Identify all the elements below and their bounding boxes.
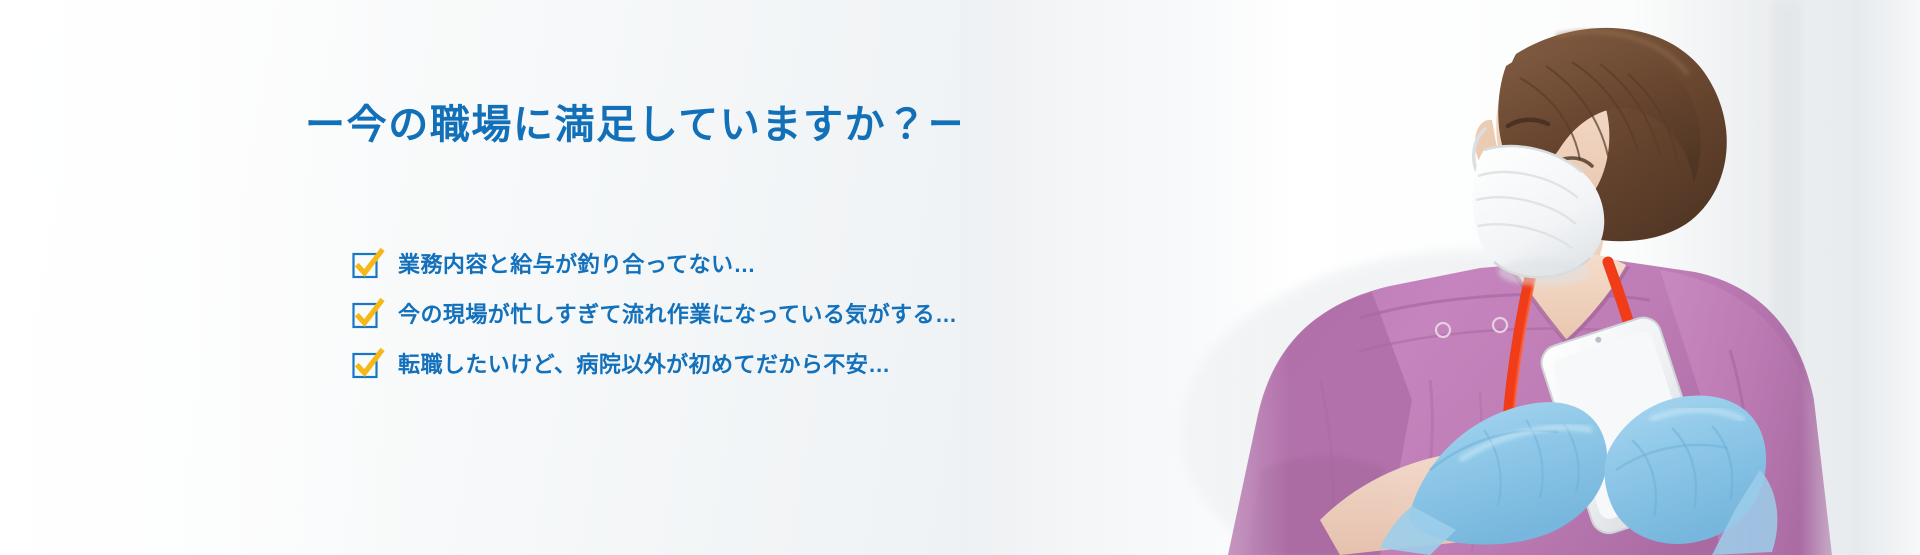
list-item: 転職したいけど、病院以外が初めてだから不安…: [352, 350, 957, 380]
checkbox-checked-icon: [352, 350, 382, 380]
list-item-label: 転職したいけど、病院以外が初めてだから不安…: [398, 351, 891, 380]
checkbox-checked-icon: [352, 250, 382, 280]
list-item: 業務内容と給与が釣り合ってない…: [352, 250, 957, 280]
wall-edge-highlight: [1800, 0, 1920, 555]
photo-left-fade: [960, 0, 1290, 555]
page-title: ー今の職場に満足していますか？ー: [305, 100, 969, 150]
hero-banner: ー今の職場に満足していますか？ー 業務内容と給与が釣り合ってない…: [0, 0, 1920, 555]
checkbox-checked-icon: [352, 300, 382, 330]
list-item-label: 今の現場が忙しすぎて流れ作業になっている気がする…: [398, 301, 957, 330]
list-item-label: 業務内容と給与が釣り合ってない…: [398, 251, 756, 280]
concerns-checklist: 業務内容と給与が釣り合ってない… 今の現場が忙しすぎて流れ作業になっている気がす…: [352, 250, 957, 380]
nurse-photo: [960, 0, 1920, 555]
list-item: 今の現場が忙しすぎて流れ作業になっている気がする…: [352, 300, 957, 330]
